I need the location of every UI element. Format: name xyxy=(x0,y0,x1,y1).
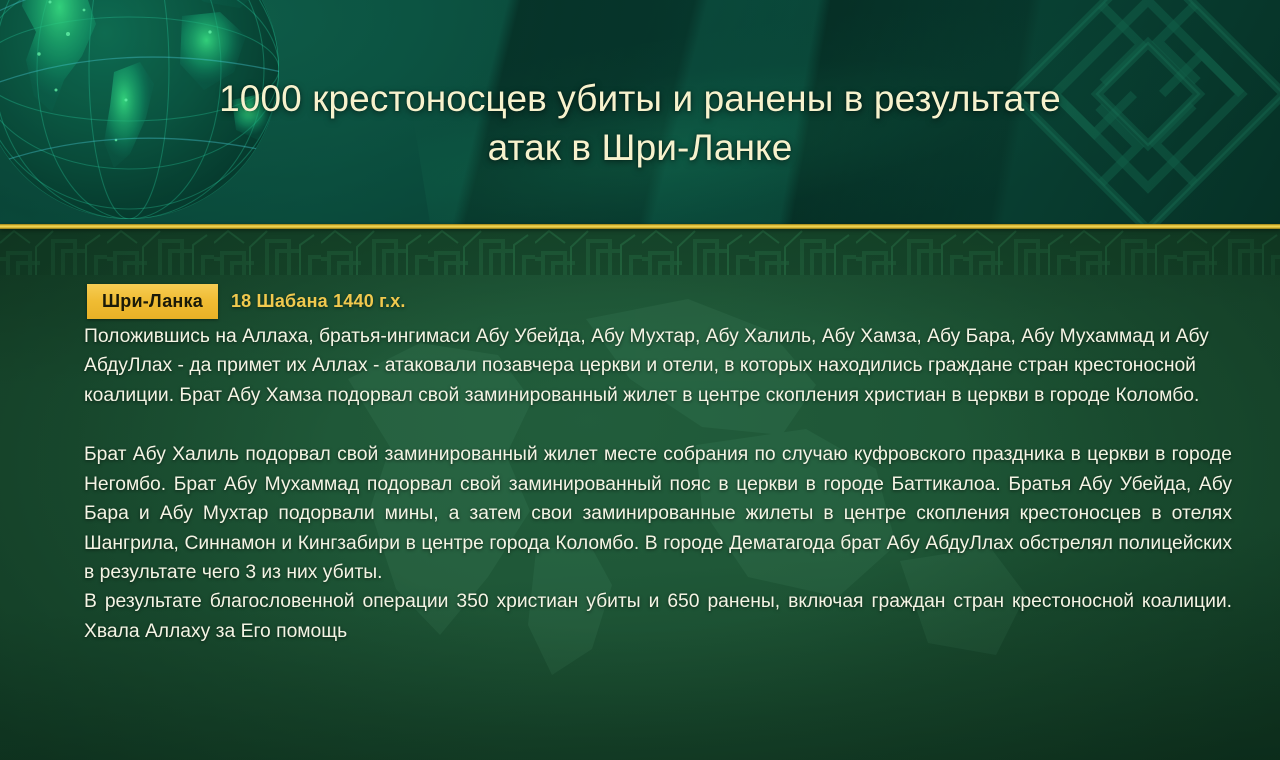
geometric-pattern-band xyxy=(0,229,1280,275)
paragraph-3: В результате благословенной операции 350… xyxy=(84,587,1232,646)
statement-graphic-page: 1000 крестоносцев убиты и ранены в резул… xyxy=(0,0,1280,760)
meta-row: Шри-Ланка 18 Шабана 1440 г.х. xyxy=(87,284,406,319)
page-title: 1000 крестоносцев убиты и ранены в резул… xyxy=(0,74,1280,172)
article-body: Положившись на Аллаха, братья-ингимаси А… xyxy=(84,322,1232,646)
paragraph-1: Положившись на Аллаха, братья-ингимаси А… xyxy=(84,322,1232,410)
hijri-date-label: 18 Шабана 1440 г.х. xyxy=(231,291,406,312)
paragraph-spacer xyxy=(84,410,1232,440)
country-badge: Шри-Ланка xyxy=(87,284,218,319)
gold-divider xyxy=(0,224,1280,229)
article-panel: Шри-Ланка 18 Шабана 1440 г.х. Положившис… xyxy=(0,229,1280,760)
header-banner: 1000 крестоносцев убиты и ранены в резул… xyxy=(0,0,1280,224)
paragraph-2: Брат Абу Халиль подорвал свой заминирова… xyxy=(84,440,1232,587)
